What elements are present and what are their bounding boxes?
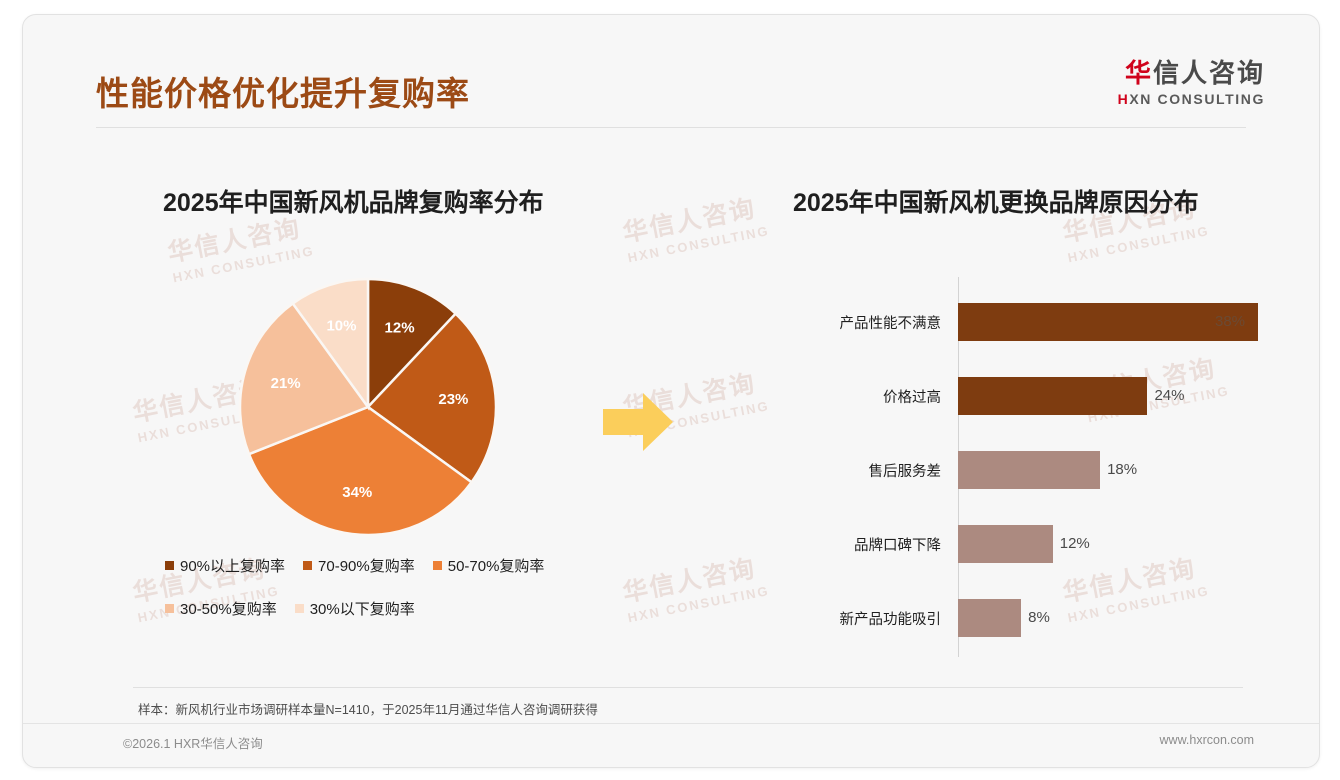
legend-swatch-icon	[165, 604, 174, 613]
sample-divider	[133, 687, 1243, 688]
legend-swatch-icon	[295, 604, 304, 613]
bar-track: 24%	[953, 377, 1263, 415]
brand-logo: 华信人咨询 HXN CONSULTING	[1118, 59, 1265, 107]
right-arrow-icon	[603, 391, 675, 458]
slide-card: 性能价格优化提升复购率 华信人咨询 HXN CONSULTING 华信人咨询 H…	[22, 14, 1320, 768]
bar-track: 12%	[953, 525, 1263, 563]
copyright-text: ©2026.1 HXR华信人咨询	[123, 733, 263, 752]
bar-row: 产品性能不满意38%	[813, 303, 1263, 341]
bar-value-label: 18%	[1107, 451, 1137, 489]
bar-category-label: 价格过高	[813, 386, 953, 407]
bar-category-label: 售后服务差	[813, 460, 953, 481]
logo-chinese: 华信人咨询	[1118, 59, 1265, 88]
bar-track: 8%	[953, 599, 1263, 637]
slide-root: 性能价格优化提升复购率 华信人咨询 HXN CONSULTING 华信人咨询 H…	[0, 0, 1340, 780]
bar-chart-title: 2025年中国新风机更换品牌原因分布	[793, 183, 1199, 219]
bar-row: 价格过高24%	[813, 377, 1263, 415]
bar-category-label: 品牌口碑下降	[813, 534, 953, 555]
footer-divider	[23, 723, 1319, 724]
bar-fill	[958, 599, 1021, 637]
bar-chart: 产品性能不满意38%价格过高24%售后服务差18%品牌口碑下降12%新产品功能吸…	[813, 277, 1263, 657]
bar-track: 18%	[953, 451, 1263, 489]
legend-row: 30-50%复购率30%以下复购率	[165, 598, 585, 619]
page-title: 性能价格优化提升复购率	[96, 67, 470, 115]
bar-value-label: 12%	[1060, 525, 1090, 563]
watermark: 华信人咨询 HXN CONSULTING	[619, 547, 770, 626]
bar-row: 品牌口碑下降12%	[813, 525, 1263, 563]
legend-item[interactable]: 90%以上复购率	[165, 555, 285, 576]
legend-swatch-icon	[433, 561, 442, 570]
pie-slice-label: 10%	[326, 317, 356, 334]
legend-item[interactable]: 50-70%复购率	[433, 555, 545, 576]
legend-label: 30%以下复购率	[310, 598, 415, 619]
legend-swatch-icon	[165, 561, 174, 570]
pie-chart-title: 2025年中国新风机品牌复购率分布	[163, 183, 544, 219]
sample-note: 样本：新风机行业市场调研样本量N=1410，于2025年11月通过华信人咨询调研…	[138, 699, 598, 718]
pie-chart-svg: 12%23%34%21%10%	[238, 277, 498, 537]
website-link[interactable]: www.hxrcon.com	[1160, 733, 1254, 747]
legend-label: 30-50%复购率	[180, 598, 277, 619]
bar-value-label: 24%	[1154, 377, 1184, 415]
bar-value-label: 8%	[1028, 599, 1050, 637]
logo-chinese-rest: 信人咨询	[1153, 58, 1265, 88]
pie-slice-label: 34%	[342, 484, 372, 501]
bar-fill	[958, 377, 1147, 415]
legend-item[interactable]: 70-90%复购率	[303, 555, 415, 576]
legend-label: 70-90%复购率	[318, 555, 415, 576]
bar-track: 38%	[953, 303, 1263, 341]
legend-item[interactable]: 30%以下复购率	[295, 598, 415, 619]
bar-row: 新产品功能吸引8%	[813, 599, 1263, 637]
pie-slice-label: 23%	[438, 391, 468, 408]
pie-slice-label: 21%	[271, 375, 301, 392]
title-divider	[96, 127, 1246, 128]
bar-category-label: 产品性能不满意	[813, 312, 953, 333]
bar-category-label: 新产品功能吸引	[813, 608, 953, 629]
pie-chart-legend: 90%以上复购率70-90%复购率50-70%复购率30-50%复购率30%以下…	[165, 555, 585, 641]
bar-fill	[958, 303, 1258, 341]
bar-value-label: 38%	[1215, 303, 1245, 341]
logo-english: HXN CONSULTING	[1118, 91, 1265, 107]
logo-english-rest: XN CONSULTING	[1129, 91, 1265, 107]
legend-label: 90%以上复购率	[180, 555, 285, 576]
legend-item[interactable]: 30-50%复购率	[165, 598, 277, 619]
pie-slice-label: 12%	[385, 319, 415, 336]
legend-swatch-icon	[303, 561, 312, 570]
bar-fill	[958, 525, 1053, 563]
logo-english-red: H	[1118, 91, 1130, 107]
legend-row: 90%以上复购率70-90%复购率50-70%复购率	[165, 555, 585, 576]
bar-row: 售后服务差18%	[813, 451, 1263, 489]
watermark: 华信人咨询 HXN CONSULTING	[619, 187, 770, 266]
logo-chinese-red: 华	[1125, 58, 1153, 88]
legend-label: 50-70%复购率	[448, 555, 545, 576]
bar-fill	[958, 451, 1100, 489]
pie-chart: 12%23%34%21%10%	[238, 277, 498, 537]
